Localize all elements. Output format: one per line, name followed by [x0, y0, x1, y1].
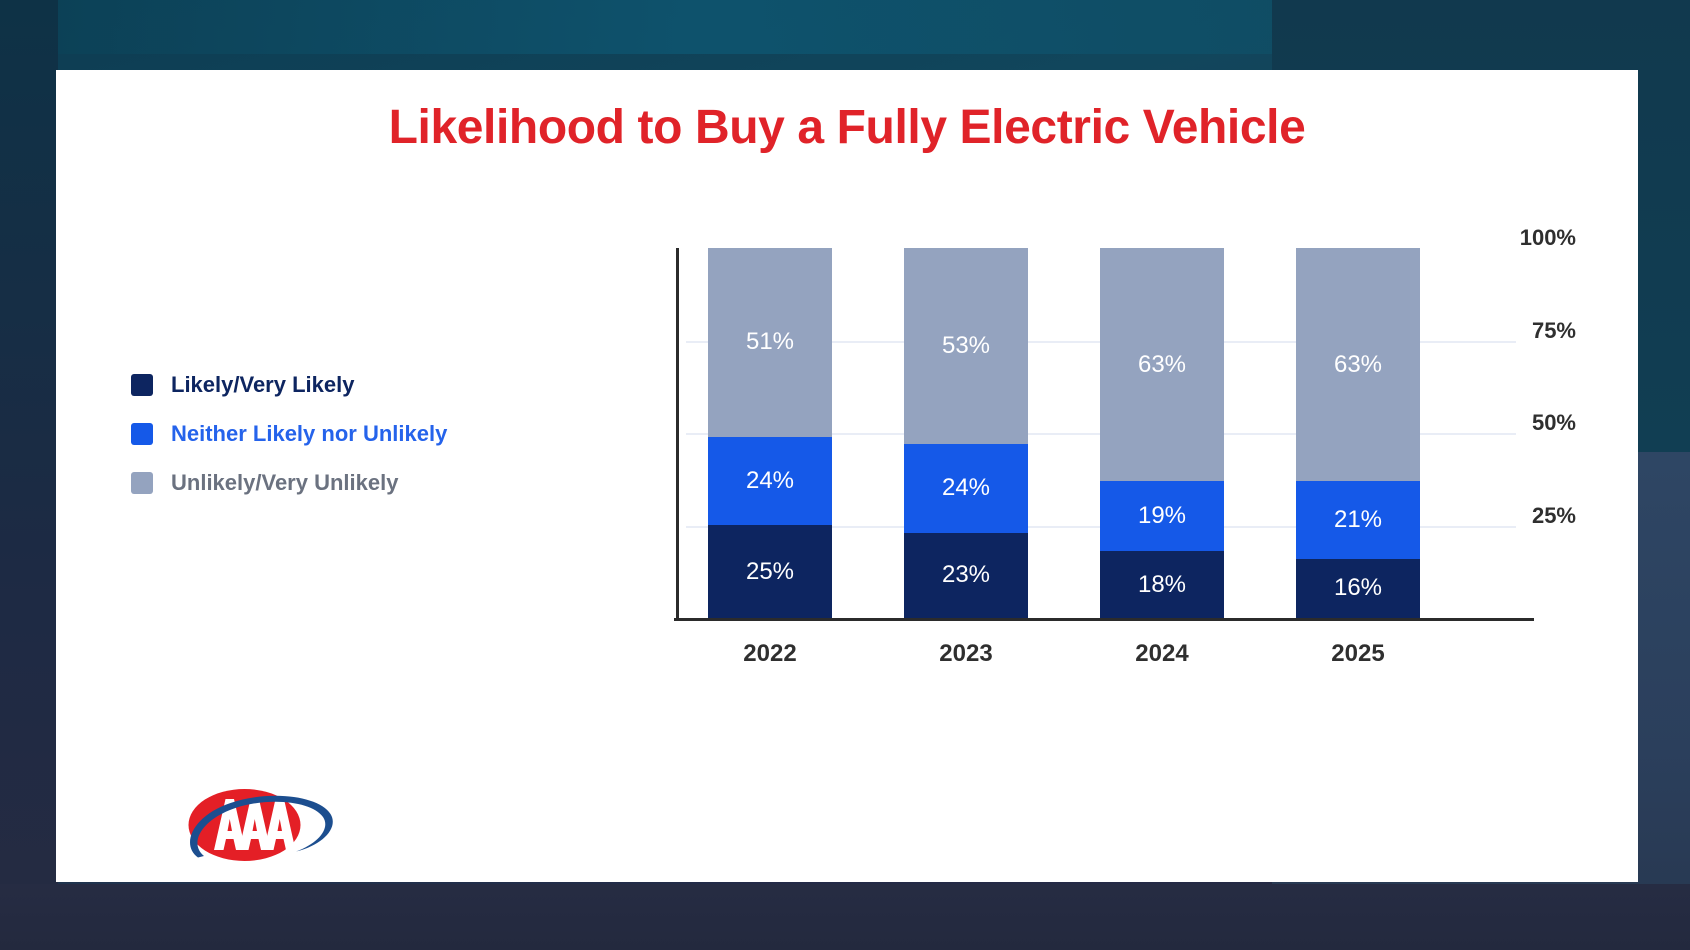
- background-top-band: [0, 0, 1272, 54]
- background-bottom-band: [0, 884, 1690, 950]
- bar-segment[interactable]: 24%: [904, 444, 1028, 533]
- legend-label-neither: Neither Likely nor Unlikely: [171, 421, 447, 447]
- slide-card: Likelihood to Buy a Fully Electric Vehic…: [56, 70, 1638, 882]
- legend-swatch-unlikely: [131, 472, 153, 494]
- legend-label-likely: Likely/Very Likely: [171, 372, 354, 398]
- bar-segment[interactable]: 51%: [708, 248, 832, 437]
- x-axis-label-2024: 2024: [1100, 640, 1224, 668]
- bar-column-2023[interactable]: 53%24%23%: [904, 248, 1028, 618]
- bar-segment[interactable]: 25%: [708, 525, 832, 618]
- bar-segment[interactable]: 63%: [1296, 248, 1420, 481]
- bar-column-2025[interactable]: 63%21%16%: [1296, 248, 1420, 618]
- bar-segment[interactable]: 16%: [1296, 559, 1420, 618]
- background-left-strip: [0, 0, 58, 950]
- legend-swatch-neither: [131, 423, 153, 445]
- bar-segment[interactable]: 23%: [904, 533, 1028, 618]
- bar-segment[interactable]: 19%: [1100, 481, 1224, 551]
- legend-label-unlikely: Unlikely/Very Unlikely: [171, 470, 398, 496]
- aaa-logo: [178, 770, 343, 880]
- slide-canvas: Likelihood to Buy a Fully Electric Vehic…: [0, 0, 1690, 950]
- bar-column-2022[interactable]: 51%24%25%: [708, 248, 832, 618]
- x-axis-tick-labels: 2022202320242025: [686, 640, 1516, 680]
- legend-item-likely[interactable]: Likely/Very Likely: [131, 360, 447, 409]
- bar-segment[interactable]: 53%: [904, 248, 1028, 444]
- legend-item-unlikely[interactable]: Unlikely/Very Unlikely: [131, 458, 447, 507]
- page-title: Likelihood to Buy a Fully Electric Vehic…: [56, 100, 1638, 155]
- stacked-bar-chart: 25%50%75%100% 51%24%25%53%24%23%63%19%18…: [586, 228, 1576, 728]
- x-axis-label-2025: 2025: [1296, 640, 1420, 668]
- bar-segment[interactable]: 18%: [1100, 551, 1224, 618]
- bar-column-2024[interactable]: 63%19%18%: [1100, 248, 1224, 618]
- x-axis-label-2022: 2022: [708, 640, 832, 668]
- y-axis-line: [676, 248, 679, 620]
- chart-legend: Likely/Very Likely Neither Likely nor Un…: [131, 360, 447, 507]
- bar-segment[interactable]: 63%: [1100, 248, 1224, 481]
- bar-group: 51%24%25%53%24%23%63%19%18%63%21%16%: [686, 248, 1516, 618]
- legend-item-neither[interactable]: Neither Likely nor Unlikely: [131, 409, 447, 458]
- x-axis-line: [674, 618, 1534, 621]
- x-axis-label-2023: 2023: [904, 640, 1028, 668]
- aaa-logo-icon: [178, 770, 343, 880]
- bar-segment[interactable]: 21%: [1296, 481, 1420, 559]
- legend-swatch-likely: [131, 374, 153, 396]
- plot-area: 51%24%25%53%24%23%63%19%18%63%21%16% 202…: [686, 238, 1516, 608]
- bar-segment[interactable]: 24%: [708, 437, 832, 526]
